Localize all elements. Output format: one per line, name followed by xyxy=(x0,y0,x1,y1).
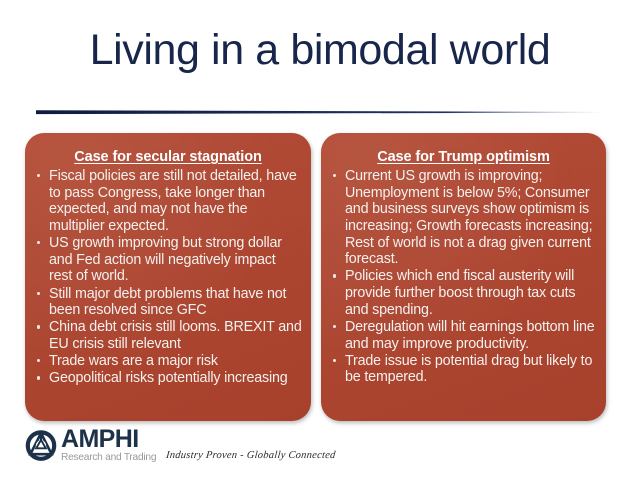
bullet-item: Trade issue is potential drag but likely… xyxy=(330,353,597,386)
bullet-text: Still major debt problems that have not … xyxy=(49,286,286,319)
slide-canvas: Living in a bimodal world Case for secul… xyxy=(0,0,640,479)
bullet-item: Policies which end fiscal austerity will… xyxy=(330,268,597,318)
panel-right-heading: Case for Trump optimism xyxy=(330,148,597,166)
bullet-text: Trade issue is potential drag but likely… xyxy=(345,353,592,386)
bullet-item: Deregulation will hit earnings bottom li… xyxy=(330,319,597,352)
amphi-wordmark: AMPHI Research and Trading xyxy=(61,427,156,463)
bullet-dot-icon xyxy=(37,325,40,328)
amphi-logo-name: AMPHI xyxy=(61,427,156,452)
bullet-item: Still major debt problems that have not … xyxy=(34,286,302,319)
panel-trump-optimism: Case for Trump optimism Current US growt… xyxy=(321,133,606,421)
bullet-text: Deregulation will hit earnings bottom li… xyxy=(345,319,595,352)
bullet-text: US growth improving but strong dollar an… xyxy=(49,235,282,284)
amphi-logo: AMPHI Research and Trading xyxy=(24,427,156,463)
bullet-item: China debt crisis still looms. BREXIT an… xyxy=(34,319,302,352)
bullet-dot-icon xyxy=(37,359,40,362)
bullet-dot-icon xyxy=(333,274,336,277)
bullet-dot-icon xyxy=(333,174,336,177)
bullet-text: Geopolitical risks potentially increasin… xyxy=(49,370,288,386)
bullet-item: Trade wars are a major risk xyxy=(34,353,302,370)
bullet-item: Fiscal policies are still not detailed, … xyxy=(34,168,302,235)
bullet-item: Geopolitical risks potentially increasin… xyxy=(34,370,302,387)
bullet-text: China debt crisis still looms. BREXIT an… xyxy=(49,319,302,352)
amphi-tagline: Industry Proven - Globally Connected xyxy=(165,450,336,461)
amphi-circle-triangle-icon xyxy=(24,428,58,462)
slide-footer: AMPHI Research and Trading Industry Prov… xyxy=(0,424,640,479)
panel-secular-stagnation: Case for secular stagnation Fiscal polic… xyxy=(25,133,311,421)
panel-left-bullet-list: Fiscal policies are still not detailed, … xyxy=(34,168,302,387)
bullet-dot-icon xyxy=(37,241,40,244)
bullet-text: Trade wars are a major risk xyxy=(49,353,218,369)
bullet-text: Fiscal policies are still not detailed, … xyxy=(49,168,297,234)
bullet-dot-icon xyxy=(333,359,336,362)
amphi-logo-subtitle: Research and Trading xyxy=(61,453,156,463)
bullet-dot-icon xyxy=(37,292,40,295)
panel-left-heading: Case for secular stagnation xyxy=(34,148,302,166)
page-title: Living in a bimodal world xyxy=(0,28,640,73)
bullet-dot-icon xyxy=(37,174,40,177)
bullet-dot-icon xyxy=(37,376,40,379)
bullet-text: Current US growth is improving; Unemploy… xyxy=(345,168,592,267)
bullet-dot-icon xyxy=(333,325,336,328)
bullet-item: Current US growth is improving; Unemploy… xyxy=(330,168,597,268)
bullet-item: US growth improving but strong dollar an… xyxy=(34,235,302,285)
title-divider xyxy=(36,110,604,115)
bullet-text: Policies which end fiscal austerity will… xyxy=(345,268,575,317)
panel-right-bullet-list: Current US growth is improving; Unemploy… xyxy=(330,168,597,386)
